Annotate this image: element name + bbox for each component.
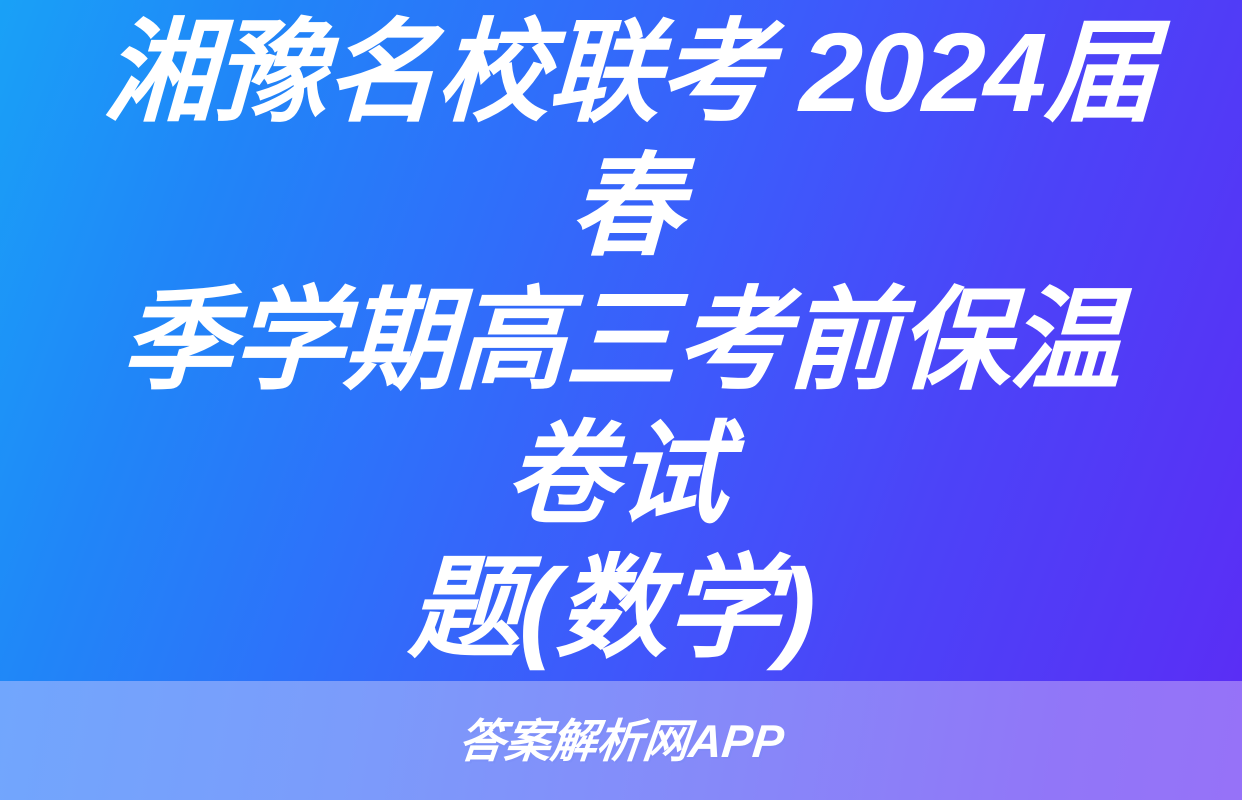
hero-gradient-panel: 湘豫名校联考 2024届春 季学期高三考前保温卷试 题(数学) — [0, 0, 1242, 681]
page-title: 湘豫名校联考 2024届春 季学期高三考前保温卷试 题(数学) — [59, 6, 1182, 676]
footer-watermark-band: 答案解析网APP — [0, 681, 1242, 800]
exam-title-card: 湘豫名校联考 2024届春 季学期高三考前保温卷试 题(数学) 答案解析网APP — [0, 0, 1242, 800]
watermark-brand-label: 答案解析网APP — [456, 715, 786, 767]
